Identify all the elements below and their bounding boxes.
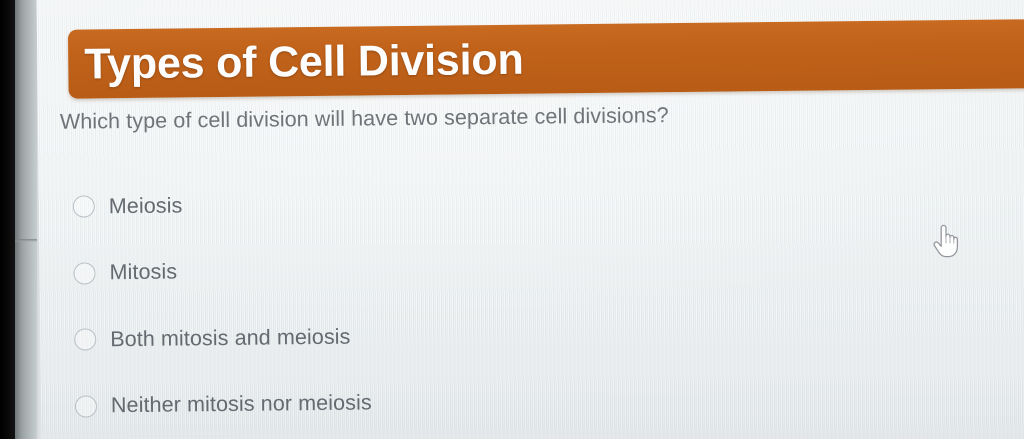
page-title: Types of Cell Division <box>84 29 524 96</box>
question-text: Which type of cell division will have tw… <box>60 103 669 135</box>
answer-option-3[interactable]: Both mitosis and meiosis <box>74 299 775 373</box>
radio-button-icon[interactable] <box>75 395 97 417</box>
title-banner: Types of Cell Division <box>68 19 1024 99</box>
answer-option-label: Meiosis <box>109 193 183 219</box>
answer-option-label: Mitosis <box>109 260 177 286</box>
screen-surface: Types of Cell Division Which type of cel… <box>36 0 1024 439</box>
screen-photo: Types of Cell Division Which type of cel… <box>0 0 1024 439</box>
photo-dark-edge <box>0 0 15 439</box>
answer-option-1[interactable]: Meiosis <box>72 166 773 240</box>
answer-option-4[interactable]: Neither mitosis nor meiosis <box>75 366 776 439</box>
device-bezel <box>15 0 39 439</box>
radio-button-icon[interactable] <box>73 262 95 284</box>
answer-option-label: Both mitosis and meiosis <box>110 324 350 352</box>
device-bezel-seam <box>15 239 39 242</box>
answer-options-list: Meiosis Mitosis Both mitosis and meiosis… <box>72 166 775 439</box>
radio-button-icon[interactable] <box>73 196 95 218</box>
radio-button-icon[interactable] <box>74 329 96 351</box>
answer-option-2[interactable]: Mitosis <box>73 233 774 307</box>
answer-option-label: Neither mitosis nor meiosis <box>111 391 372 419</box>
